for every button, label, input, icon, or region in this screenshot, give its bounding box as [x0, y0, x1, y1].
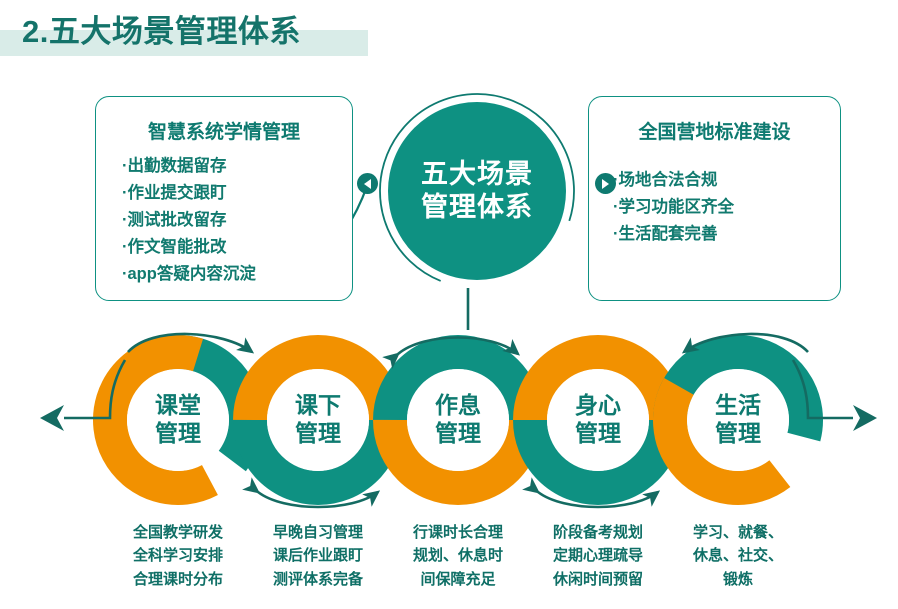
- caption-4-line2: 定期心理疏导: [523, 544, 673, 567]
- caption-5-line3: 锻炼: [663, 568, 813, 591]
- infographic-canvas: 2.五大场景管理体系: [0, 0, 898, 609]
- arrow-right-icon: [793, 360, 877, 431]
- arc-arrow-top-center: [398, 338, 518, 355]
- arc-arrow-top-right: [684, 334, 808, 352]
- ring-label-3-line1: 作息: [400, 392, 516, 420]
- caption-5-line2: 休息、社交、: [663, 544, 813, 567]
- arc-arrow-top-left: [128, 334, 252, 352]
- ring-label-2-line2: 管理: [260, 420, 376, 448]
- ring-label-1-line1: 课堂: [120, 392, 236, 420]
- caption-2-line3: 测评体系完备: [243, 568, 393, 591]
- caption-3-line2: 规划、休息时: [383, 544, 533, 567]
- chevron-left-icon[interactable]: [357, 173, 378, 194]
- ring-label-4-line2: 管理: [540, 420, 656, 448]
- list-item: ·学习功能区齐全: [613, 194, 734, 221]
- ring-label-3-line2: 管理: [400, 420, 516, 448]
- caption-2: 早晚自习管理 课后作业跟盯 测评体系完备: [243, 521, 393, 591]
- hub-title-line1: 五大场景: [421, 158, 533, 191]
- chevron-left-glyph: [364, 179, 371, 189]
- caption-4-line3: 休闲时间预留: [523, 568, 673, 591]
- hub-circle[interactable]: 五大场景 管理体系: [388, 102, 566, 280]
- caption-5-line1: 学习、就餐、: [663, 521, 813, 544]
- ring-label-5[interactable]: 生活 管理: [680, 392, 796, 447]
- ring-label-4-line1: 身心: [540, 392, 656, 420]
- chevron-right-glyph: [602, 179, 609, 189]
- card-camp-standard[interactable]: 全国营地标准建设 ·场地合法合规 ·学习功能区齐全 ·生活配套完善: [588, 96, 841, 301]
- arc-arrow-bottom-right: [538, 492, 658, 507]
- ring-label-4[interactable]: 身心 管理: [540, 392, 656, 447]
- ring-label-2-line1: 课下: [260, 392, 376, 420]
- caption-2-line2: 课后作业跟盯: [243, 544, 393, 567]
- list-item: ·app答疑内容沉淀: [122, 261, 256, 288]
- list-item: ·测试批改留存: [122, 207, 256, 234]
- caption-1: 全国教学研发 全科学习安排 合理课时分布: [103, 521, 253, 591]
- caption-2-line1: 早晚自习管理: [243, 521, 393, 544]
- list-item: ·生活配套完善: [613, 221, 734, 248]
- ring-label-1-line2: 管理: [120, 420, 236, 448]
- arrow-left-icon: [40, 360, 125, 431]
- caption-4-line1: 阶段备考规划: [523, 521, 673, 544]
- ring-label-5-line1: 生活: [680, 392, 796, 420]
- caption-3: 行课时长合理 规划、休息时 间保障充足: [383, 521, 533, 591]
- list-item: ·作文智能批改: [122, 234, 256, 261]
- card-right-title: 全国营地标准建设: [589, 117, 840, 144]
- card-left-title: 智慧系统学情管理: [96, 117, 352, 144]
- chevron-right-icon[interactable]: [595, 173, 616, 194]
- ring-label-3[interactable]: 作息 管理: [400, 392, 516, 447]
- card-smart-system[interactable]: 智慧系统学情管理 ·出勤数据留存 ·作业提交跟盯 ·测试批改留存 ·作文智能批改…: [95, 96, 353, 301]
- caption-3-line3: 间保障充足: [383, 568, 533, 591]
- card-right-list: ·场地合法合规 ·学习功能区齐全 ·生活配套完善: [613, 167, 734, 248]
- card-left-list: ·出勤数据留存 ·作业提交跟盯 ·测试批改留存 ·作文智能批改 ·app答疑内容…: [122, 153, 256, 287]
- caption-1-line3: 合理课时分布: [103, 568, 253, 591]
- diagram-vector-layer: [0, 0, 898, 609]
- ring-label-5-line2: 管理: [680, 420, 796, 448]
- list-item: ·出勤数据留存: [122, 153, 256, 180]
- page-title-block: 2.五大场景管理体系: [0, 0, 898, 62]
- caption-4: 阶段备考规划 定期心理疏导 休闲时间预留: [523, 521, 673, 591]
- caption-3-line1: 行课时长合理: [383, 521, 533, 544]
- page-title: 2.五大场景管理体系: [22, 6, 301, 51]
- hub-title-line2: 管理体系: [421, 191, 533, 224]
- ring-label-2[interactable]: 课下 管理: [260, 392, 376, 447]
- caption-1-line1: 全国教学研发: [103, 521, 253, 544]
- ring-label-1[interactable]: 课堂 管理: [120, 392, 236, 447]
- caption-1-line2: 全科学习安排: [103, 544, 253, 567]
- list-item: ·场地合法合规: [613, 167, 734, 194]
- caption-5: 学习、就餐、 休息、社交、 锻炼: [663, 521, 813, 591]
- arc-arrow-bottom-left: [258, 492, 378, 507]
- list-item: ·作业提交跟盯: [122, 180, 256, 207]
